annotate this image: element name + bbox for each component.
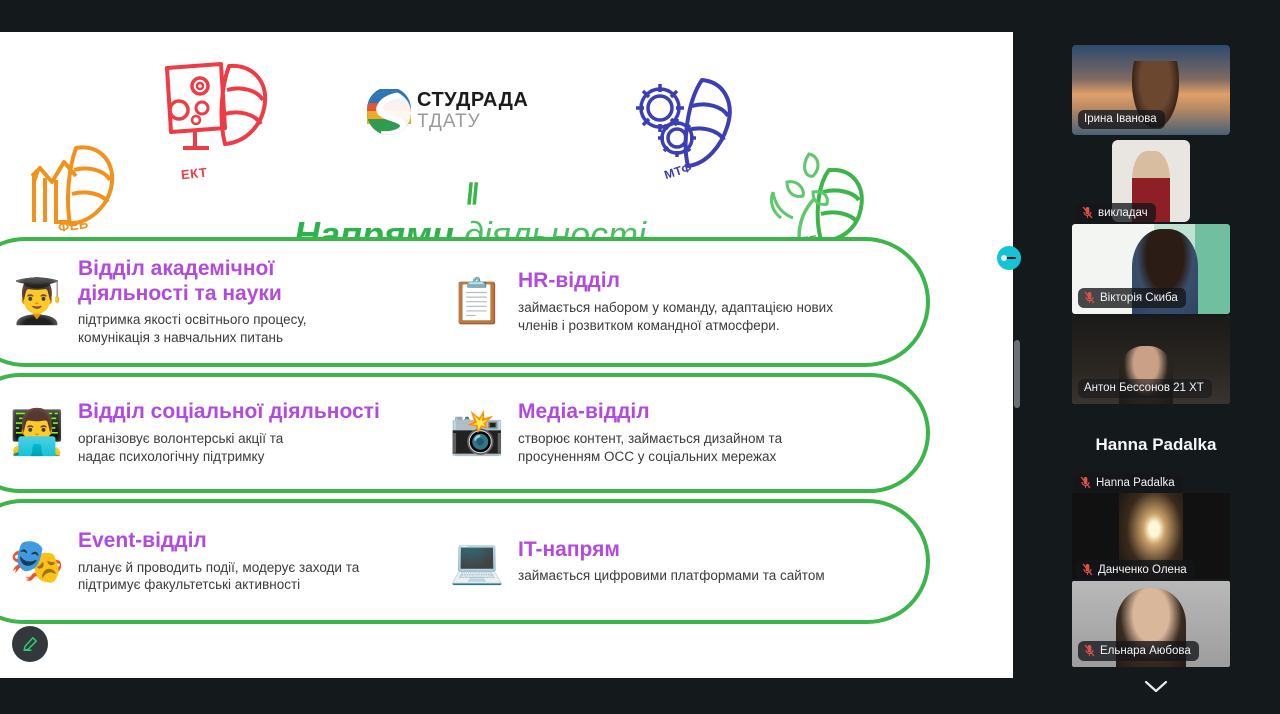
dept-row-3: 🎭 Event-відділ планує й проводить події,… [0, 499, 930, 624]
dept-description: планує й проводить події, модерує заходи… [78, 559, 359, 595]
participant-tile[interactable]: Вікторія Скиба [1072, 224, 1230, 314]
dept-row-1: 👨‍🎓 Відділ академічної діяльності та нау… [0, 237, 930, 367]
dept-title: Відділ соціальної діяльності [78, 400, 380, 425]
participant-name-chip: Данченко Олена [1076, 560, 1195, 580]
feb-logo: ФЕБ [18, 130, 128, 245]
participant-name-chip: Ельнара Аюбова [1078, 641, 1199, 661]
participant-name-chip: Вікторія Скиба [1078, 288, 1186, 308]
clipboard-emoji: 📋 [444, 280, 510, 324]
dept-description: створює контент, займається дизайном та … [518, 430, 782, 466]
dept-card-event[interactable]: 🎭 Event-відділ планує й проводить події,… [4, 503, 424, 620]
mic-off-icon [1082, 563, 1093, 576]
performing-arts-emoji: 🎭 [4, 540, 70, 584]
participant-name: Ірина Іванова [1084, 113, 1157, 125]
participant-name: Ельнара Аюбова [1100, 645, 1191, 657]
laser-pointer-dot[interactable] [997, 246, 1021, 270]
participant-name: Вікторія Скиба [1100, 292, 1178, 304]
participant-name: викладач [1098, 207, 1148, 219]
participant-name: Hanna Padalka [1096, 477, 1175, 489]
annotate-pen-button[interactable] [12, 626, 48, 662]
ekt-logo: ЕКТ [155, 54, 275, 174]
participant-name-chip: Ірина Іванова [1078, 110, 1165, 129]
dept-description: підтримка якості освітнього процесу, ком… [78, 311, 307, 347]
dept-description: займається цифровими платформами та сайт… [518, 567, 825, 585]
mic-off-icon [1084, 291, 1095, 304]
chevron-down-icon [1143, 678, 1169, 694]
dept-card-hr[interactable]: 📋 HR-відділ займається набором у команду… [444, 241, 904, 363]
ekt-logo-caption: ЕКТ [180, 165, 208, 183]
dept-description: організовує волонтерські акції та надає … [78, 430, 380, 466]
studrada-logo-subcaption: ТДАТУ [417, 111, 481, 133]
meeting-screen: ФЕБ ЕКТ [0, 0, 1280, 714]
shared-slide[interactable]: ФЕБ ЕКТ [0, 32, 1013, 678]
mic-off-icon [1084, 644, 1095, 657]
participant-tile[interactable]: Ельнара Аюбова [1072, 581, 1230, 667]
studrada-logo-caption: СТУДРАДА [417, 89, 528, 112]
pointer-arrow [1002, 257, 1016, 259]
rail-scroll-down-button[interactable] [1124, 668, 1188, 704]
dept-description: займається набором у команду, адаптацією… [518, 299, 833, 335]
participant-name: Антон Бессонов 21 ХТ [1084, 382, 1204, 394]
laptop-emoji: 💻 [444, 540, 510, 584]
vertical-scrollbar[interactable] [1014, 340, 1020, 408]
dept-card-academic[interactable]: 👨‍🎓 Відділ академічної діяльності та нау… [4, 241, 424, 363]
participant-name: Данченко Олена [1098, 564, 1187, 576]
participant-name-chip: Антон Бессонов 21 ХТ [1078, 379, 1212, 398]
dept-row-2: 👨‍💻 Відділ соціальної діяльності організ… [0, 373, 930, 493]
participant-rail: Ірина Іванова викладач [1032, 0, 1280, 714]
dept-title: HR-відділ [518, 269, 833, 294]
dept-title: Event-відділ [78, 529, 359, 554]
studrada-logo: СТУДРАДА ТДАТУ [365, 87, 525, 147]
dept-title: Відділ академічної діяльності та науки [78, 257, 307, 307]
title-slashes-decor: \\ [461, 180, 478, 210]
mic-off-icon [1080, 476, 1091, 489]
participant-name-chip: Hanna Padalka [1074, 473, 1183, 493]
dept-card-social[interactable]: 👨‍💻 Відділ соціальної діяльності організ… [4, 377, 424, 489]
ate-logo: АТЕ [765, 142, 870, 247]
technologist-emoji: 👨‍💻 [4, 411, 70, 455]
participant-tile[interactable]: Ірина Іванова [1072, 45, 1230, 135]
dept-title: IT-напрям [518, 538, 825, 563]
participant-name-chip: викладач [1076, 203, 1156, 223]
active-speaker-name: Hanna Padalka [1032, 435, 1280, 455]
graduate-emoji: 👨‍🎓 [4, 280, 70, 324]
dept-title: Медіа-відділ [518, 400, 782, 425]
mic-off-icon [1082, 206, 1093, 219]
participant-tile-speaking[interactable]: Антон Бессонов 21 ХТ [1072, 316, 1230, 404]
camera-flash-emoji: 📸 [444, 411, 510, 455]
dept-card-it[interactable]: 💻 IT-напрям займається цифровими платфор… [444, 503, 904, 620]
pencil-annotate-icon [20, 634, 40, 654]
mtf-logo: МТФ [630, 72, 740, 182]
dept-card-media[interactable]: 📸 Медіа-відділ створює контент, займаєть… [444, 377, 904, 489]
